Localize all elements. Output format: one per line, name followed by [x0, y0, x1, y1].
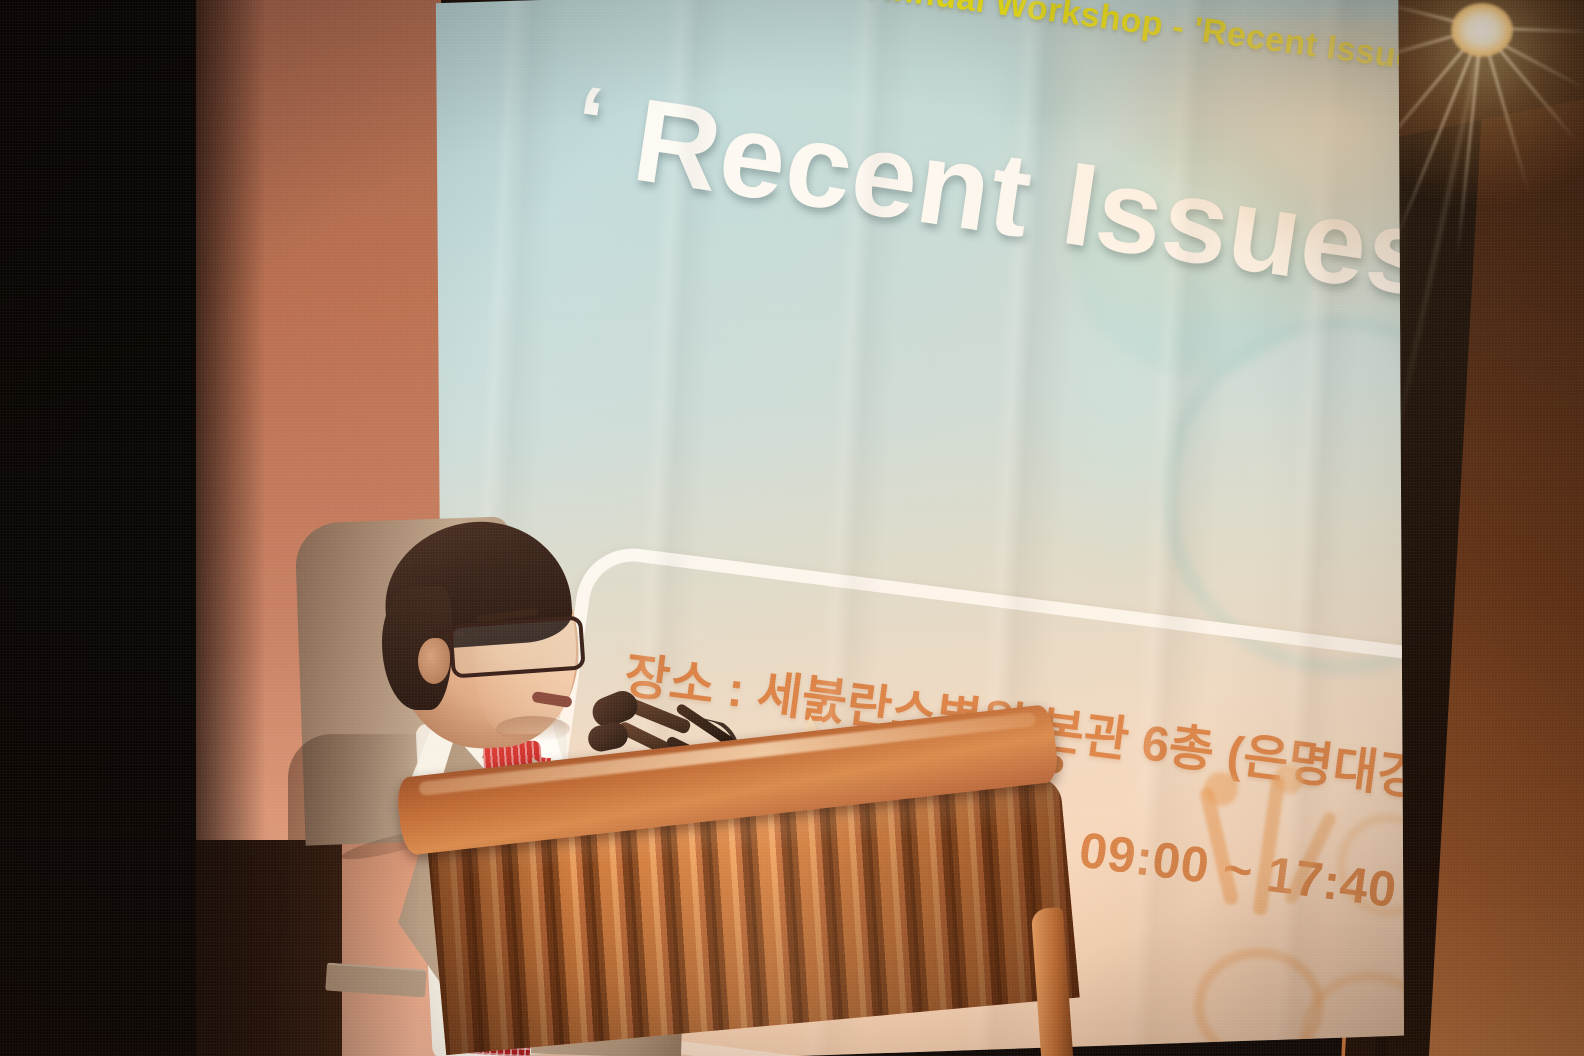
ear [418, 638, 450, 684]
chin-shadow [496, 716, 570, 742]
slide-title: ‘ Recent Issues in IRB ’ [565, 68, 1404, 328]
eyeglasses-icon [448, 615, 585, 678]
lectern [404, 778, 1064, 1056]
shoulder-shadow [288, 734, 418, 1056]
dark-stage-left [0, 0, 206, 1056]
screenshot-root: IRB Annual Workshop - 'Recent Issues in … [0, 0, 1584, 1056]
microphone-icon [586, 720, 631, 754]
spotlight-icon [1451, 3, 1513, 57]
slide-header-text: IRB Annual Workshop - 'Recent Issues in … [799, 0, 1404, 105]
slide-title-text: Recent Issues in IRB [626, 74, 1404, 378]
slide-title-open-quote: ‘ [569, 66, 612, 176]
